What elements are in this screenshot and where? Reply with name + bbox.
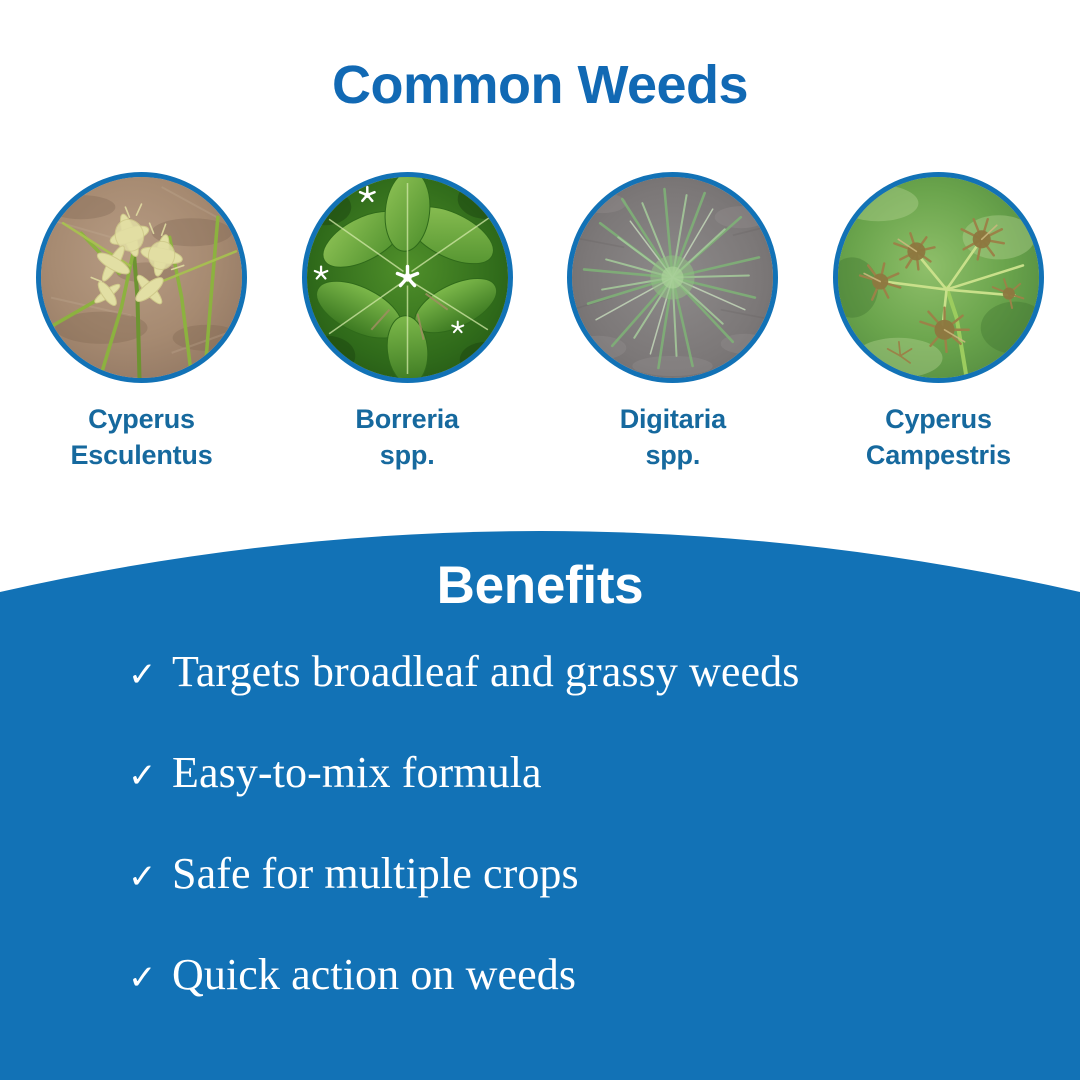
benefit-text: Easy-to-mix formula — [172, 751, 542, 795]
checkmark-icon: ✓ — [128, 860, 172, 894]
benefits-title: Benefits — [0, 557, 1080, 615]
checkmark-icon: ✓ — [128, 658, 172, 692]
benefit-text: Safe for multiple crops — [172, 852, 579, 896]
benefit-item: ✓ Easy-to-mix formula — [128, 751, 1028, 852]
benefits-section: Benefits ✓ Targets broadleaf and grassy … — [0, 0, 1080, 1080]
checkmark-icon: ✓ — [128, 961, 172, 995]
benefit-item: ✓ Targets broadleaf and grassy weeds — [128, 650, 1028, 751]
benefit-item: ✓ Quick action on weeds — [128, 953, 1028, 1054]
benefit-text: Targets broadleaf and grassy weeds — [172, 650, 800, 694]
infographic-canvas: Common Weeds — [0, 0, 1080, 1080]
benefits-list: ✓ Targets broadleaf and grassy weeds ✓ E… — [128, 650, 1028, 1054]
checkmark-icon: ✓ — [128, 759, 172, 793]
benefit-text: Quick action on weeds — [172, 953, 576, 997]
benefit-item: ✓ Safe for multiple crops — [128, 852, 1028, 953]
